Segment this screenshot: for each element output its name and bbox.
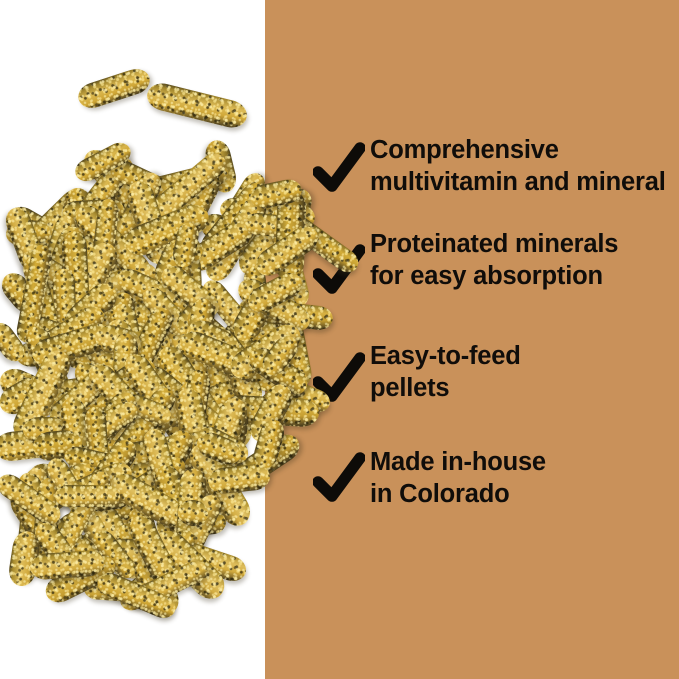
feed-pellet [183, 216, 257, 276]
feature-line-1: Comprehensive [370, 134, 666, 166]
feed-pellet [121, 269, 201, 308]
feed-pellet [149, 524, 231, 606]
feed-pellet [45, 467, 115, 564]
feed-pellet [161, 456, 193, 531]
feed-pellet [2, 204, 48, 275]
feed-pellet [106, 301, 150, 406]
feed-pellet [114, 265, 196, 318]
feed-pellet [103, 317, 146, 418]
feed-pellet [211, 346, 254, 450]
feed-pellet [22, 322, 76, 406]
feed-pellet [55, 485, 121, 507]
feature-line-1: Proteinated minerals [370, 228, 618, 260]
feed-pellet [202, 137, 239, 195]
feed-pellet [106, 468, 190, 532]
feed-pellet [79, 466, 141, 501]
feed-pellet [162, 481, 211, 522]
feed-pellet [173, 511, 226, 537]
feed-pellet [14, 456, 101, 529]
feed-pellet [188, 446, 248, 496]
feed-pellet [147, 530, 249, 585]
feed-pellet [143, 526, 199, 567]
feature-line-1: Made in-house [370, 446, 546, 478]
feed-pellet [191, 421, 252, 468]
feed-pellet [195, 177, 272, 264]
feed-pellet [125, 366, 196, 414]
feed-pellet [23, 417, 67, 443]
feed-pellet [60, 259, 161, 313]
feed-pellet [105, 395, 191, 447]
feed-pellet [218, 169, 269, 233]
feed-pellet [49, 237, 124, 339]
feed-pellet [64, 152, 137, 237]
feed-pellet [8, 345, 76, 445]
feed-pellet [151, 340, 230, 439]
feed-pellet [59, 395, 98, 495]
check-mark-icon [313, 244, 365, 300]
feed-pellet [141, 160, 230, 203]
feed-pellet [18, 245, 112, 315]
feed-pellet [85, 470, 169, 556]
feed-pellet [103, 452, 191, 522]
feed-pellet [197, 276, 253, 337]
feed-pellet [0, 318, 29, 365]
feed-pellet [29, 319, 118, 370]
feed-pellet [162, 491, 226, 588]
feed-pellet [75, 65, 153, 112]
feed-pellet [71, 138, 134, 185]
feed-pellet [29, 517, 77, 569]
feed-pellet [133, 425, 198, 516]
feed-pellet [144, 80, 250, 131]
feed-pellet [116, 425, 159, 479]
product-feature-panel: Comprehensivemultivitamin and mineralPro… [0, 0, 679, 679]
feed-pellet [162, 430, 237, 475]
feed-pellet [181, 314, 244, 367]
feed-pellet [85, 498, 151, 584]
feed-pellet [143, 255, 196, 325]
feed-pellet [11, 374, 103, 422]
feed-pellet [63, 445, 131, 480]
feed-pellet [175, 467, 208, 559]
feed-pellet [0, 363, 50, 409]
feed-pellet [76, 200, 157, 260]
feed-pellet [67, 420, 121, 491]
feed-pellet [119, 349, 199, 449]
feed-pellet [44, 213, 80, 265]
feed-pellet [20, 255, 60, 332]
feed-pellet [52, 269, 77, 339]
feed-pellet [184, 438, 256, 532]
feed-pellet [59, 416, 127, 458]
feed-pellet [63, 199, 125, 224]
feed-pellet [92, 321, 143, 360]
feed-pellet [78, 144, 165, 234]
feed-pellet [140, 148, 232, 230]
feed-pellet [97, 352, 162, 410]
feed-pellet [192, 333, 230, 391]
product-photo-panel [0, 0, 265, 679]
feed-pellet [161, 317, 198, 373]
feature-line-1: Easy-to-feed [370, 340, 521, 372]
check-mark-icon [313, 142, 365, 198]
feed-pellet [29, 549, 105, 580]
feed-pellet [29, 318, 100, 375]
feed-pellet [120, 391, 173, 429]
feed-pellet [209, 405, 250, 486]
feed-pellet [193, 428, 245, 468]
feed-pellet [123, 178, 176, 268]
feed-pellet [179, 368, 212, 435]
feature-item-text: Made in-housein Colorado [370, 446, 546, 510]
feed-pellet [118, 324, 213, 416]
feed-pellet [84, 237, 146, 308]
feature-line-2: multivitamin and mineral [370, 166, 666, 198]
feed-pellet [149, 459, 219, 500]
feed-pellet [35, 223, 92, 311]
feed-pellet [5, 220, 51, 247]
feed-pellet [83, 578, 149, 604]
feed-pellet [114, 559, 172, 616]
check-mark-icon [313, 452, 365, 508]
feed-pellet [70, 442, 175, 493]
feed-pellet [88, 396, 136, 477]
feed-pellet [64, 457, 136, 508]
feed-pellet [45, 358, 122, 430]
feed-pellet [71, 314, 119, 377]
feature-item-text: Easy-to-feedpellets [370, 340, 521, 404]
feed-pellet [151, 461, 203, 554]
feed-pellet [0, 372, 50, 420]
feed-pellet [128, 439, 211, 487]
feed-pellet [92, 307, 147, 374]
feed-pellet [37, 512, 111, 577]
feed-pellet [93, 569, 178, 622]
feed-pellet [180, 296, 216, 401]
feed-pellet [151, 490, 197, 542]
feature-line-2: for easy absorption [370, 260, 618, 292]
feed-pellet [207, 463, 271, 495]
feed-pellet [15, 243, 55, 344]
feed-pellet [201, 193, 271, 286]
feed-pellet [176, 380, 214, 450]
feed-pellet [0, 422, 97, 462]
feed-pellet [80, 413, 141, 468]
feed-pellet [125, 511, 183, 591]
feed-pellet [175, 251, 203, 299]
feed-pellet [0, 268, 44, 319]
feature-line-2: in Colorado [370, 478, 546, 510]
feature-line-2: pellets [370, 372, 521, 404]
feed-pellet [10, 369, 57, 423]
feed-pellet [172, 386, 214, 474]
feature-list: Comprehensivemultivitamin and mineralPro… [265, 0, 679, 679]
feed-pellet [207, 322, 265, 388]
feed-pellet [116, 391, 187, 443]
feed-pellet [65, 435, 141, 523]
feed-pellet [89, 316, 172, 359]
feed-pellet [23, 458, 122, 530]
feed-pellet [14, 469, 57, 524]
feed-pellet [175, 327, 271, 387]
feed-pellet [125, 557, 210, 613]
feed-pellet [92, 197, 120, 260]
feed-pellet [137, 209, 207, 267]
feed-pellet [43, 376, 100, 407]
feed-pellet [17, 467, 51, 553]
feed-pellet [141, 426, 188, 528]
feed-pellet [171, 220, 201, 269]
feed-pellet [97, 347, 189, 401]
feed-pellet [107, 156, 195, 212]
feed-pellet [4, 201, 86, 262]
feed-pellet [124, 504, 169, 577]
feed-pellet [69, 357, 130, 425]
feed-pellet [23, 302, 109, 367]
feed-pellet [179, 373, 257, 421]
feed-pellet [83, 483, 133, 513]
feed-pellet [70, 200, 157, 288]
feed-pellet [29, 477, 64, 578]
feed-pellet [43, 455, 111, 548]
feed-pellet [96, 290, 137, 361]
feed-pellet [138, 361, 233, 444]
feed-pellet [122, 371, 170, 443]
feed-pellet [171, 292, 217, 340]
feed-pellet [16, 341, 73, 368]
feed-pellet [121, 199, 214, 260]
feed-pellet [182, 304, 256, 374]
feed-pellet [84, 386, 142, 449]
feed-pellet [16, 312, 77, 357]
feed-pellet [58, 277, 123, 340]
feed-pellet [84, 406, 112, 495]
feed-pellet [42, 525, 111, 584]
feed-pellet [108, 383, 181, 467]
feature-item-text: Comprehensivemultivitamin and mineral [370, 134, 666, 198]
feed-pellet [119, 304, 177, 387]
feed-pellet [176, 498, 209, 528]
feed-pellet [110, 516, 180, 580]
feed-pellet [76, 301, 170, 330]
feed-pellet [122, 428, 221, 466]
feed-pellet [54, 482, 146, 539]
feed-pellet [22, 182, 96, 255]
feed-pellet [119, 168, 166, 232]
feed-pellet [107, 537, 187, 570]
check-mark-icon [313, 352, 365, 408]
feed-pellet [89, 526, 140, 583]
feed-pellet [7, 529, 42, 588]
feed-pellet [158, 165, 225, 260]
feed-pellet [138, 283, 194, 341]
feed-pellet [77, 401, 149, 450]
feed-pellet [56, 391, 117, 414]
feature-item-text: Proteinated mineralsfor easy absorption [370, 228, 618, 292]
feed-pellet [32, 428, 84, 462]
feed-pellet [0, 470, 66, 530]
feed-pellet [70, 396, 142, 453]
feed-pellet [83, 213, 137, 244]
feed-pellet [222, 352, 266, 413]
feed-pellet [193, 394, 252, 494]
feed-pellet [111, 333, 138, 423]
feed-pellet [151, 236, 192, 289]
feed-pellet [5, 483, 63, 553]
feed-pellet [130, 555, 185, 620]
feed-pellet [60, 230, 90, 320]
feed-pellet [100, 150, 153, 228]
feed-pellet [156, 260, 224, 323]
feed-pellet [167, 388, 217, 431]
feed-pellet [70, 489, 146, 526]
feed-pellet [91, 490, 153, 522]
feed-pellet [131, 184, 205, 219]
feed-pellet [61, 185, 104, 263]
feed-pellet [41, 551, 120, 608]
feed-pellet [83, 358, 165, 440]
